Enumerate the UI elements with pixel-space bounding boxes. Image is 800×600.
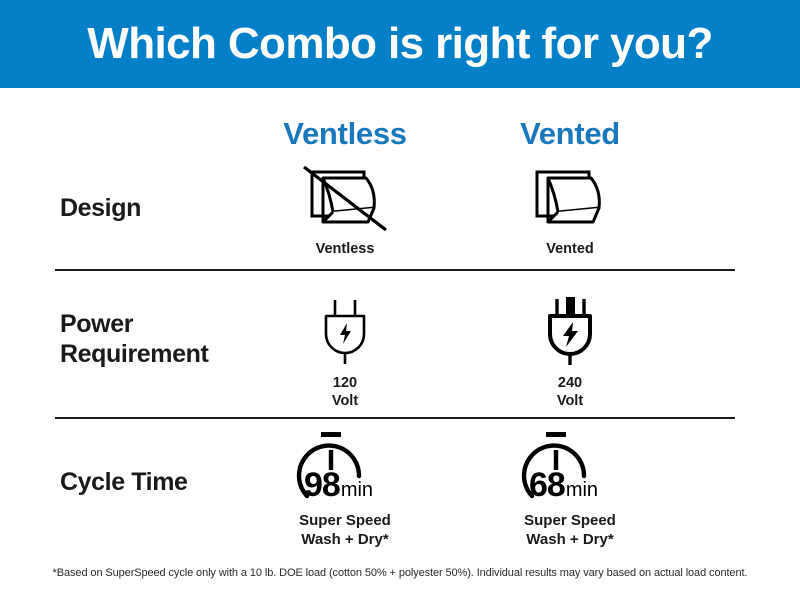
- caption-power-ventless: 120 Volt: [332, 374, 358, 410]
- stopwatch-block-vented: 68 min: [495, 430, 645, 508]
- divider-1: [55, 269, 735, 271]
- row-cycle-time: Cycle Time 98 min Super Speed Wa: [0, 420, 800, 550]
- vent-crossed-out-icon: [290, 164, 400, 234]
- cycle-time-vented-value: 68: [529, 468, 565, 502]
- column-headers: Ventless Vented: [0, 114, 800, 158]
- caption-cycle-ventless-line1: Super Speed: [299, 512, 391, 531]
- power-plug-icon: [310, 296, 380, 368]
- divider-2: [55, 417, 735, 419]
- cycle-time-vented: 68 min: [529, 468, 598, 502]
- caption-cycle-vented-line2: Wash + Dry*: [524, 531, 616, 550]
- cell-design-ventless: Ventless: [235, 160, 455, 268]
- caption-power-ventless-unit: Volt: [332, 392, 358, 410]
- cell-power-vented: 240 Volt: [460, 272, 680, 415]
- caption-power-vented-value: 240: [557, 374, 583, 392]
- caption-power-ventless-value: 120: [332, 374, 358, 392]
- stopwatch-block-ventless: 98 min: [270, 430, 420, 508]
- cycle-time-ventless: 98 min: [304, 468, 373, 502]
- vent-duct-icon: [515, 164, 625, 234]
- footnote: *Based on SuperSpeed cycle only with a 1…: [0, 566, 800, 580]
- cell-cycle-vented: 68 min Super Speed Wash + Dry*: [460, 420, 680, 550]
- column-header-ventless: Ventless: [235, 114, 455, 154]
- cell-cycle-ventless: 98 min Super Speed Wash + Dry*: [235, 420, 455, 550]
- caption-design-vented: Vented: [546, 240, 594, 258]
- cycle-time-ventless-unit: min: [341, 480, 373, 500]
- cycle-time-ventless-value: 98: [304, 468, 340, 502]
- caption-power-vented: 240 Volt: [557, 374, 583, 410]
- caption-cycle-vented-line1: Super Speed: [524, 512, 616, 531]
- caption-cycle-vented: Super Speed Wash + Dry*: [524, 512, 616, 550]
- page-title: Which Combo is right for you?: [87, 22, 712, 66]
- caption-cycle-ventless-line2: Wash + Dry*: [299, 531, 391, 550]
- power-plug-icon: [535, 296, 605, 368]
- comparison-infographic: Which Combo is right for you? Ventless V…: [0, 0, 800, 600]
- caption-power-vented-unit: Volt: [557, 392, 583, 410]
- column-header-vented: Vented: [460, 114, 680, 154]
- caption-cycle-ventless: Super Speed Wash + Dry*: [299, 512, 391, 550]
- caption-design-ventless: Ventless: [316, 240, 375, 258]
- cycle-time-vented-unit: min: [566, 480, 598, 500]
- cell-design-vented: Vented: [460, 160, 680, 268]
- row-power-requirement: Power Requirement 120 Volt: [0, 272, 800, 415]
- header-banner: Which Combo is right for you?: [0, 0, 800, 88]
- cell-power-ventless: 120 Volt: [235, 272, 455, 415]
- row-design: Design Ventless: [0, 160, 800, 268]
